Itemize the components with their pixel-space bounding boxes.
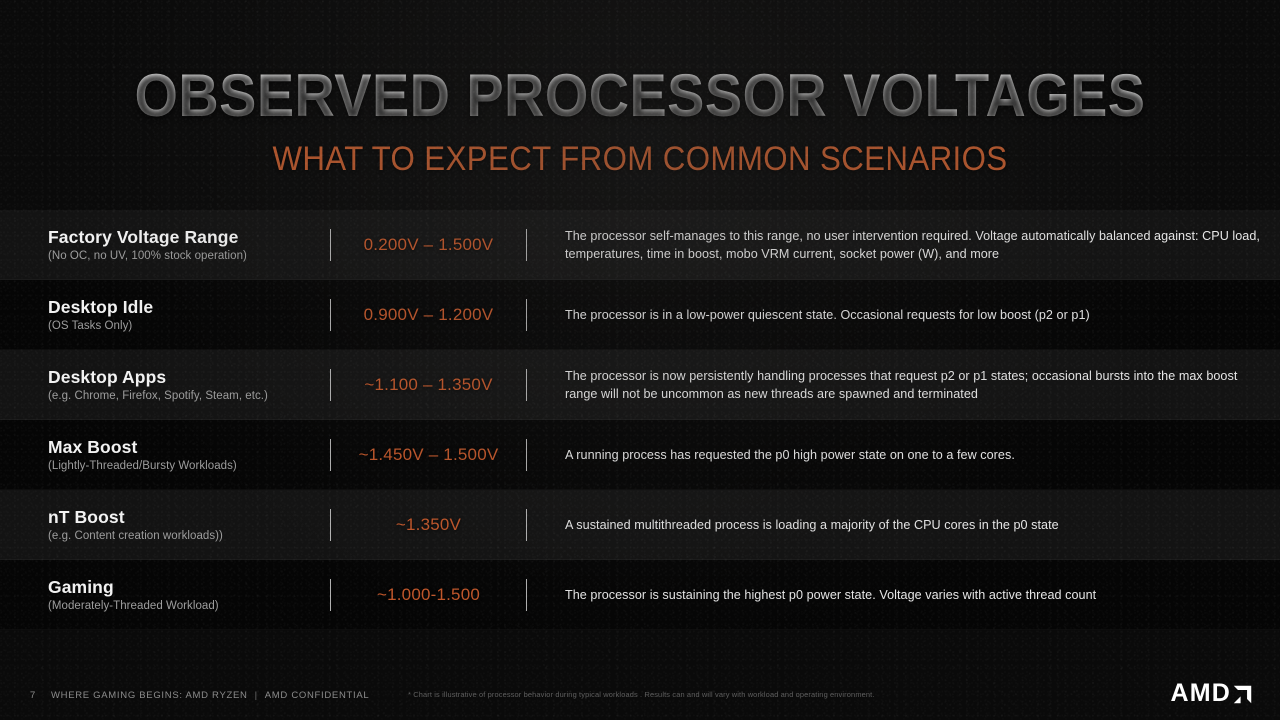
row-sublabel: (Lightly-Threaded/Bursty Workloads) — [48, 460, 330, 474]
page-number: 7 — [30, 690, 36, 701]
row-sublabel: (e.g. Chrome, Firefox, Spotify, Steam, e… — [48, 390, 330, 404]
row-sublabel: (No OC, no UV, 100% stock operation) — [48, 250, 330, 264]
column-divider-right — [526, 509, 527, 541]
row-description: The processor is in a low-power quiescen… — [527, 306, 1280, 324]
row-label: nT Boost — [48, 507, 330, 527]
table-row: nT Boost(e.g. Content creation workloads… — [0, 490, 1280, 560]
footer-separator: | — [255, 690, 258, 701]
page-subtitle: WHAT TO EXPECT FROM COMMON SCENARIOS — [51, 140, 1229, 179]
table-row: Max Boost(Lightly-Threaded/Bursty Worklo… — [0, 420, 1280, 490]
row-label: Desktop Idle — [48, 297, 330, 317]
column-divider-left — [330, 509, 331, 541]
column-divider-right — [526, 369, 527, 401]
confidentiality-label: AMD CONFIDENTIAL — [265, 690, 370, 701]
row-description: A sustained multithreaded process is loa… — [527, 516, 1280, 534]
row-label: Max Boost — [48, 437, 330, 457]
column-divider-right — [526, 579, 527, 611]
column-divider-left — [330, 299, 331, 331]
row-voltage-value: ~1.000-1.500 — [331, 585, 526, 605]
column-divider-left — [330, 439, 331, 471]
table-row: Desktop Apps(e.g. Chrome, Firefox, Spoti… — [0, 350, 1280, 420]
row-label-cell: Factory Voltage Range(No OC, no UV, 100%… — [0, 227, 330, 264]
row-label-cell: Desktop Apps(e.g. Chrome, Firefox, Spoti… — [0, 367, 330, 404]
row-voltage-value: ~1.450V – 1.500V — [331, 445, 526, 465]
voltage-table: Factory Voltage Range(No OC, no UV, 100%… — [0, 210, 1280, 630]
amd-arrow-icon — [1233, 685, 1252, 704]
row-label-cell: Max Boost(Lightly-Threaded/Bursty Worklo… — [0, 437, 330, 474]
page-title: OBSERVED PROCESSOR VOLTAGES — [45, 66, 1235, 126]
column-divider-right — [526, 439, 527, 471]
column-divider-left — [330, 579, 331, 611]
row-label-cell: Gaming(Moderately-Threaded Workload) — [0, 577, 330, 614]
row-description: A running process has requested the p0 h… — [527, 446, 1280, 464]
row-sublabel: (e.g. Content creation workloads)) — [48, 530, 330, 544]
row-voltage-value: ~1.100 – 1.350V — [331, 375, 526, 395]
column-divider-left — [330, 369, 331, 401]
amd-logo: AMD — [1170, 682, 1252, 705]
row-label-cell: Desktop Idle(OS Tasks Only) — [0, 297, 330, 334]
row-label: Gaming — [48, 577, 330, 597]
row-voltage-value: 0.900V – 1.200V — [331, 305, 526, 325]
row-sublabel: (Moderately-Threaded Workload) — [48, 600, 330, 614]
row-voltage-value: 0.200V – 1.500V — [331, 235, 526, 255]
row-description: The processor self-manages to this range… — [527, 227, 1280, 264]
deck-name: WHERE GAMING BEGINS: AMD RYZEN — [51, 690, 248, 701]
amd-wordmark: AMD — [1170, 682, 1231, 705]
row-sublabel: (OS Tasks Only) — [48, 320, 330, 334]
column-divider-right — [526, 299, 527, 331]
row-label: Factory Voltage Range — [48, 227, 330, 247]
table-row: Factory Voltage Range(No OC, no UV, 100%… — [0, 210, 1280, 280]
table-row: Desktop Idle(OS Tasks Only)0.900V – 1.20… — [0, 280, 1280, 350]
row-description: The processor is sustaining the highest … — [527, 586, 1280, 604]
slide-root: OBSERVED PROCESSOR VOLTAGES WHAT TO EXPE… — [0, 0, 1280, 720]
column-divider-right — [526, 229, 527, 261]
row-description: The processor is now persistently handli… — [527, 367, 1280, 404]
row-label: Desktop Apps — [48, 367, 330, 387]
table-row: Gaming(Moderately-Threaded Workload)~1.0… — [0, 560, 1280, 630]
row-label-cell: nT Boost(e.g. Content creation workloads… — [0, 507, 330, 544]
slide-header: OBSERVED PROCESSOR VOLTAGES WHAT TO EXPE… — [0, 0, 1280, 205]
footer-meta: 7 WHERE GAMING BEGINS: AMD RYZEN | AMD C… — [30, 690, 369, 701]
row-voltage-value: ~1.350V — [331, 515, 526, 535]
slide-footer: 7 WHERE GAMING BEGINS: AMD RYZEN | AMD C… — [0, 674, 1280, 720]
column-divider-left — [330, 229, 331, 261]
footnote-disclaimer: * Chart is illustrative of processor beh… — [408, 690, 875, 699]
